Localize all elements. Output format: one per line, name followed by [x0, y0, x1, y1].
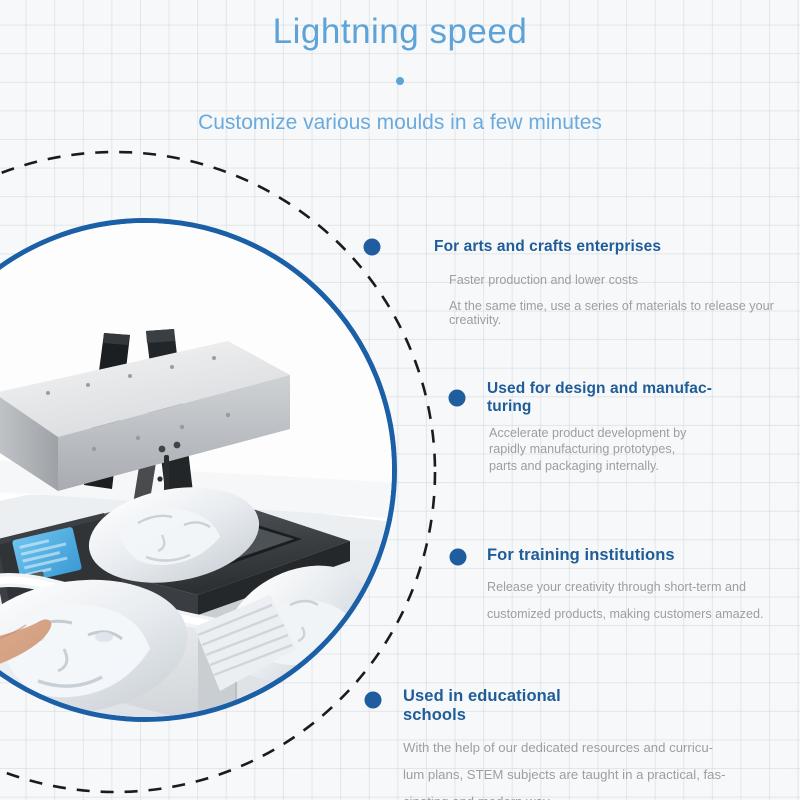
- feature-body-2-line-3: parts and packaging internally.: [489, 458, 787, 475]
- vacuum-forming-machine-illustration: [0, 223, 392, 717]
- feature-body-1-line-2: At the same time, use a series of materi…: [434, 299, 786, 327]
- feature-heading-4: Used in educational schools: [403, 687, 763, 726]
- feature-body-1: Faster production and lower costs At the…: [434, 273, 786, 327]
- feature-item-3: For training institutions Release your c…: [487, 546, 787, 634]
- feature-body-4-line-1: With the help of our dedicated resources…: [403, 740, 763, 755]
- feature-body-4: With the help of our dedicated resources…: [403, 740, 763, 800]
- feature-item-4: Used in educational schools With the hel…: [403, 687, 763, 800]
- feature-heading-3: For training institutions: [487, 546, 787, 565]
- feature-body-1-line-1: Faster production and lower costs: [434, 273, 786, 287]
- feature-item-1: For arts and crafts enterprises Faster p…: [434, 238, 786, 339]
- feature-body-3: Release your creativity through short-te…: [487, 580, 787, 621]
- slide-canvas: Lightning speed Customize various moulds…: [0, 0, 800, 800]
- feature-body-2-line-1: Accelerate product development by: [489, 425, 787, 442]
- feature-body-2: Accelerate product development by rapidl…: [487, 425, 787, 476]
- feature-body-3-line-1: Release your creativity through short-te…: [487, 580, 787, 594]
- feature-heading-2-line-1: Used for design and manufac-: [487, 380, 712, 397]
- feature-heading-4-line-2: schools: [403, 706, 466, 724]
- timeline-dot-3: [450, 549, 467, 566]
- feature-heading-2: Used for design and manufac- turing: [487, 380, 787, 417]
- feature-body-3-line-2: customized products, making customers am…: [487, 607, 787, 621]
- feature-heading-4-line-1: Used in educational: [403, 687, 561, 705]
- product-photo-circle: [0, 218, 397, 722]
- feature-body-4-line-2: lum plans, STEM subjects are taught in a…: [403, 767, 763, 782]
- timeline-dot-2: [449, 390, 466, 407]
- feature-body-4-line-3: cinating and modern way.: [403, 794, 763, 800]
- feature-heading-2-line-2: turing: [487, 398, 532, 415]
- feature-body-2-line-2: rapidly manufacturing prototypes,: [489, 441, 787, 458]
- feature-heading-1: For arts and crafts enterprises: [434, 238, 786, 256]
- feature-item-2: Used for design and manufac- turing Acce…: [487, 380, 787, 475]
- product-photo: [0, 223, 392, 717]
